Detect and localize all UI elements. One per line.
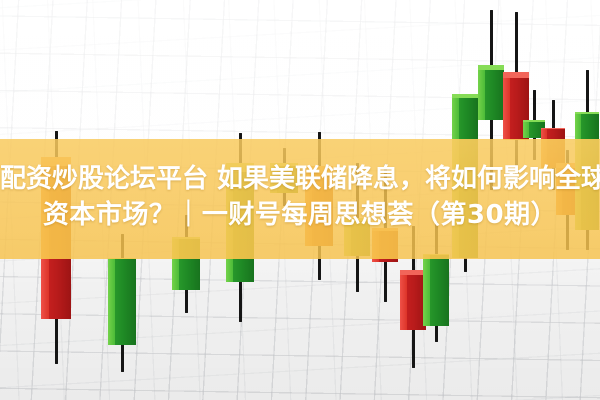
candlestick-left-face [452,94,459,139]
candlestick-left-face [400,270,407,330]
candlestick-body [226,259,254,282]
candlestick-left-face [541,128,547,139]
candlestick-top-face [575,112,599,114]
candlestick-body [41,259,71,319]
headline-line-2: 资本市场？｜一财号每周思想荟（第30期） [0,197,600,233]
banner-image: 配资炒股论坛平台 如果美联储降息，将如何影响全球 资本市场？｜一财号每周思想荟（… [0,0,600,400]
candlestick-left-face [372,259,379,262]
candlestick-left-face [503,72,510,139]
candlestick-body [478,65,504,120]
candlestick-body [452,94,478,139]
headline-line-1: 配资炒股论坛平台 如果美联储降息，将如何影响全球 [0,161,600,197]
candlestick-body [423,259,449,326]
candlestick-body [108,259,136,345]
candlestick-top-face [452,94,478,98]
candlestick-left-face [172,259,179,290]
candlestick-left-face [108,259,115,345]
candlestick-body [372,259,398,262]
headline-text: 配资炒股论坛平台 如果美联储降息，将如何影响全球 资本市场？｜一财号每周思想荟（… [0,161,600,233]
candlestick-top-face [478,65,504,70]
candlestick-left-face [226,259,233,282]
candlestick-left-face [478,65,485,120]
candlestick-left-face [41,259,49,319]
candlestick-body [575,112,599,139]
candlestick-left-face [423,259,430,326]
candlestick-left-face [575,112,581,139]
candlestick-body [172,259,200,290]
candlestick-left-face [523,120,529,138]
